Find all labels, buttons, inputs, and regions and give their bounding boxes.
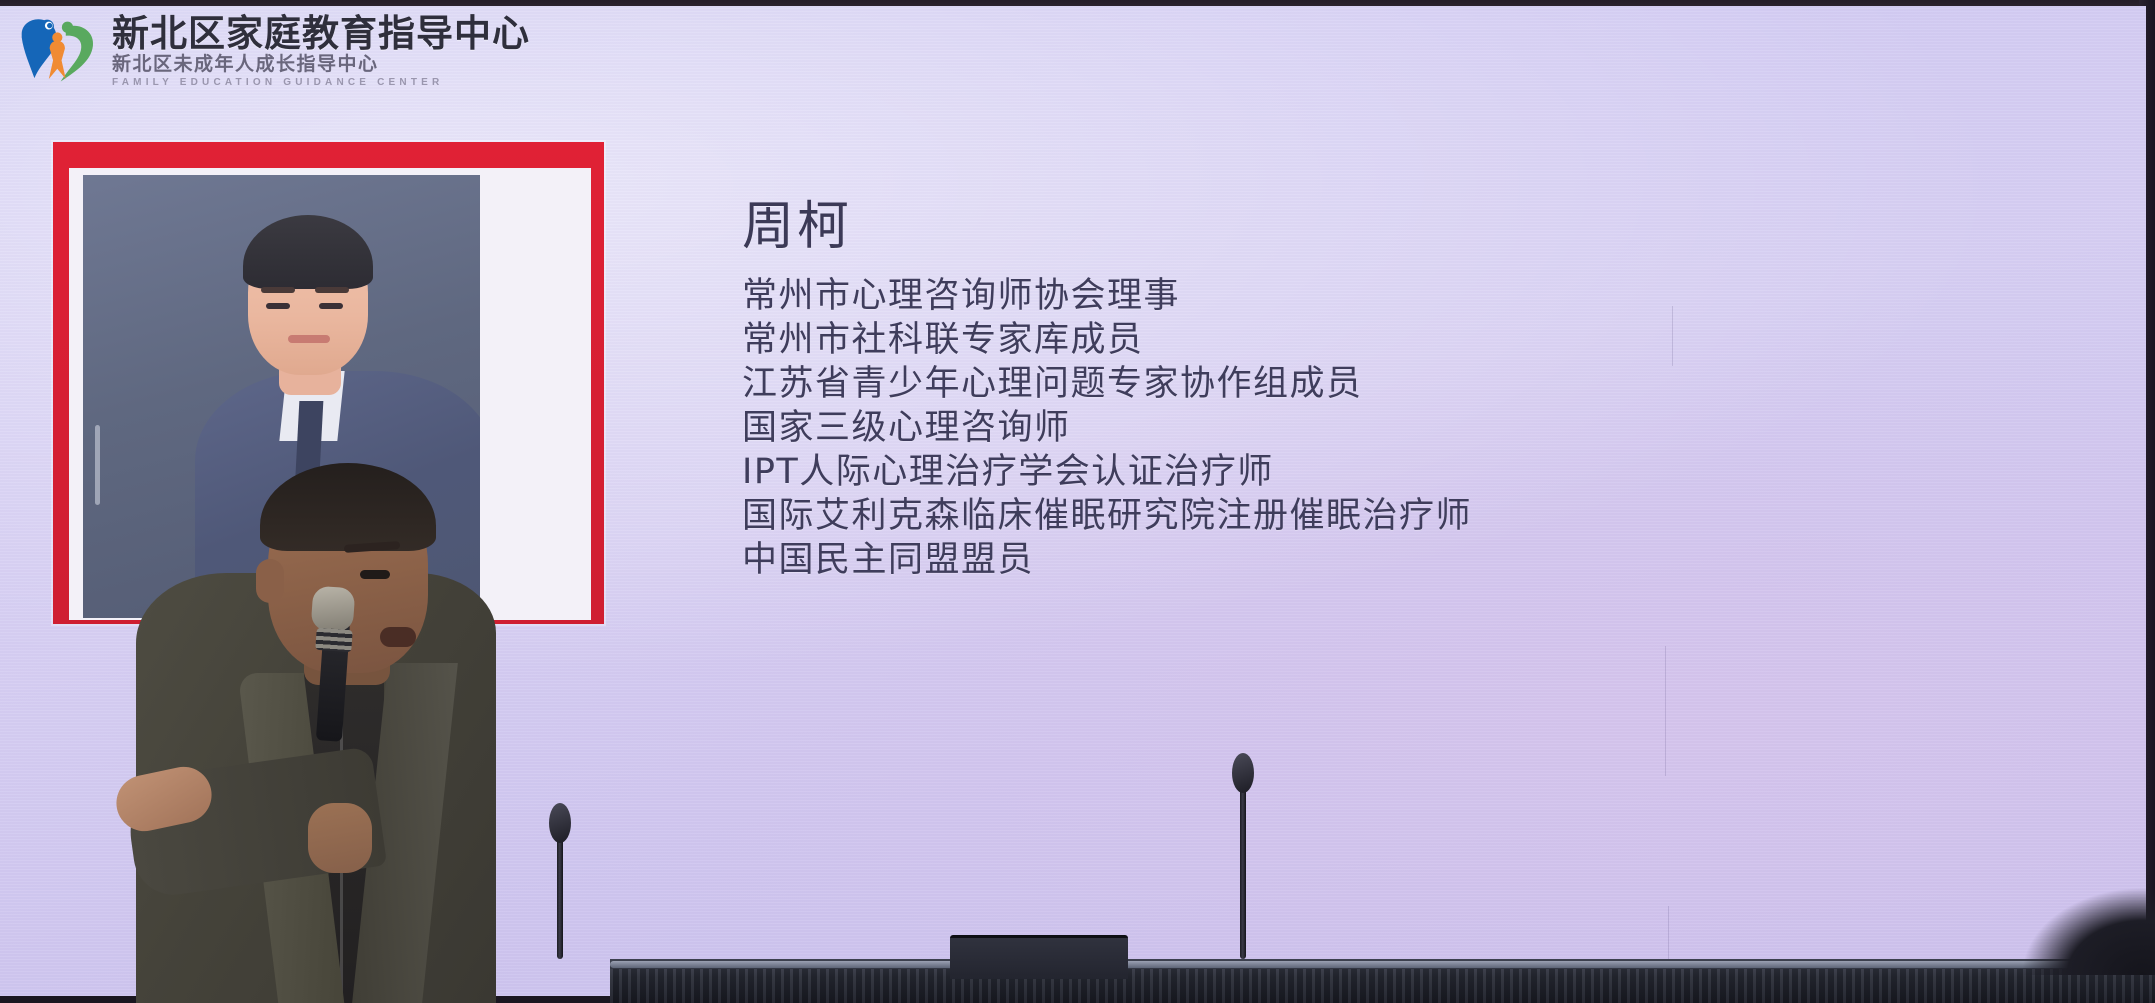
speaker-hand-right: [308, 803, 372, 873]
presenter-monitor: [950, 935, 1128, 979]
panel-seam: [1665, 646, 1666, 776]
mic-stem: [1240, 779, 1246, 959]
credential-item: IPT人际心理治疗学会认证治疗师: [742, 450, 1472, 494]
slide-credentials-list: 常州市心理咨询师协会理事 常州市社科联专家库成员 江苏省青少年心理问题专家协作组…: [742, 274, 1472, 582]
organization-logo: 新北区家庭教育指导中心 新北区未成年人成长指导中心 FAMILY EDUCATI…: [16, 12, 530, 90]
panel-seam: [1672, 306, 1673, 366]
slide-speaker-name: 周柯: [742, 184, 852, 259]
portrait-background-detail: [95, 425, 100, 505]
speaker-mouth: [380, 627, 416, 647]
handheld-microphone-head: [311, 586, 356, 633]
portrait-hair: [243, 215, 373, 289]
foreground-dark-object: [1915, 865, 2155, 975]
speaker-eye: [360, 570, 390, 579]
logo-subtitle-en: FAMILY EDUCATION GUIDANCE CENTER: [112, 78, 530, 88]
credential-item: 常州市社科联专家库成员: [742, 318, 1472, 362]
credential-item: 国家三级心理咨询师: [742, 406, 1472, 450]
family-education-heart-logo-icon: [16, 12, 102, 90]
credential-item: 江苏省青少年心理问题专家协作组成员: [742, 362, 1472, 406]
logo-subtitle-cn: 新北区未成年人成长指导中心: [112, 55, 530, 74]
screenshot-root: 新北区家庭教育指导中心 新北区未成年人成长指导中心 FAMILY EDUCATI…: [0, 0, 2155, 1003]
credential-item: 常州市心理咨询师协会理事: [742, 274, 1472, 318]
speaker-ear: [256, 559, 284, 603]
speaker-hair: [260, 463, 436, 551]
credential-item: 国际艾利克森临床催眠研究院注册催眠治疗师: [742, 494, 1472, 538]
mic-capsule: [1232, 753, 1254, 793]
logo-title-cn: 新北区家庭教育指导中心: [112, 15, 530, 52]
speaker-person: [108, 283, 578, 1003]
credential-item: 中国民主同盟盟员: [742, 538, 1472, 582]
handheld-microphone-grille: [315, 628, 352, 652]
